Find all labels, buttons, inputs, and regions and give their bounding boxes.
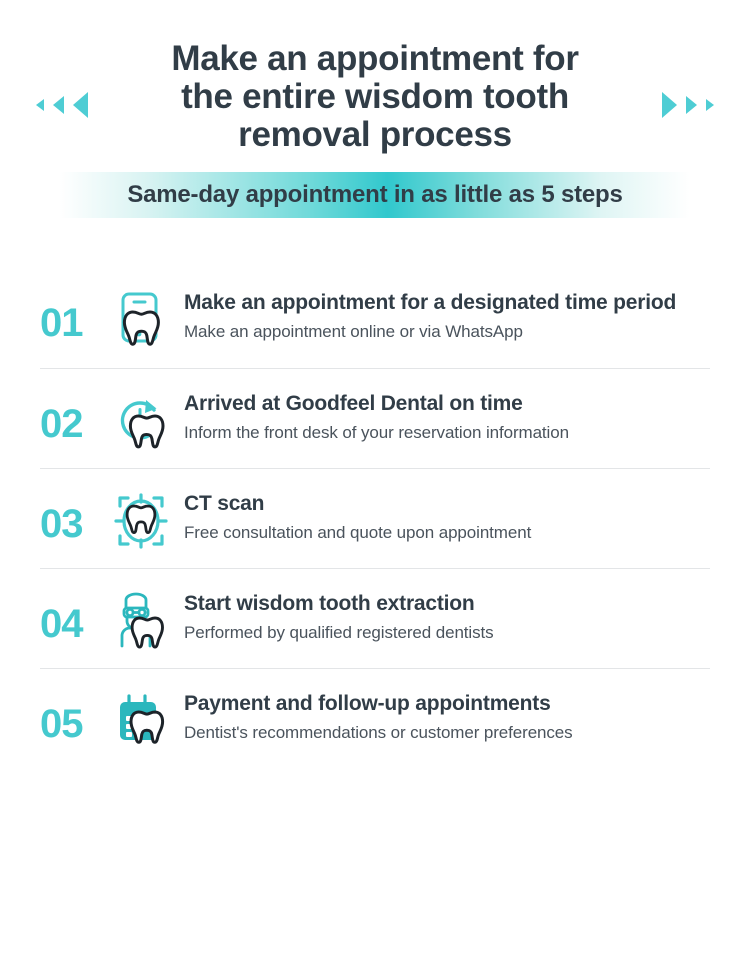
page-title-line-3: removal process — [130, 116, 620, 154]
step-number: 04 — [40, 584, 102, 644]
page-title-line-1: Make an appointment for — [130, 40, 620, 78]
header: Make an appointment for the entire wisdo… — [0, 0, 750, 150]
appointment-process-infographic: Make an appointment for the entire wisdo… — [0, 0, 750, 965]
step-text: Arrived at Goodfeel Dental on time Infor… — [180, 384, 710, 444]
step-number: 02 — [40, 384, 102, 444]
step-description: Performed by qualified registered dentis… — [184, 622, 710, 644]
step-description: Make an appointment online or via WhatsA… — [184, 321, 710, 343]
step-item: 04 Start wisdom — [40, 568, 710, 668]
step-description: Dentist's recommendations or customer pr… — [184, 722, 710, 744]
step-title: CT scan — [184, 490, 710, 517]
step-title: Payment and follow-up appointments — [184, 690, 710, 717]
calendar-tooth-icon — [102, 684, 180, 752]
step-text: Make an appointment for a designated tim… — [180, 283, 710, 343]
step-description: Inform the front desk of your reservatio… — [184, 422, 710, 444]
banner-wrapper: Same-day appointment in as little as 5 s… — [0, 172, 750, 218]
chevron-left-icon — [53, 96, 64, 114]
step-item: 01 Make an appointment for a designated … — [40, 268, 710, 368]
chevron-right-icon — [706, 99, 714, 111]
scan-brackets-tooth-icon — [102, 484, 180, 552]
clock-arrow-tooth-icon — [102, 384, 180, 452]
step-item: 02 Arrived at Goodfeel Dental on time In… — [40, 368, 710, 468]
page-title: Make an appointment for the entire wisdo… — [0, 40, 750, 154]
chevron-right-icon — [686, 96, 697, 114]
step-number: 01 — [40, 283, 102, 343]
step-description: Free consultation and quote upon appoint… — [184, 522, 710, 544]
page-title-line-2: the entire wisdom tooth — [130, 78, 620, 116]
left-arrow-decoration — [36, 92, 88, 118]
highlight-banner: Same-day appointment in as little as 5 s… — [60, 172, 690, 218]
step-text: CT scan Free consultation and quote upon… — [180, 484, 710, 544]
chevron-right-icon — [662, 92, 677, 118]
step-number: 03 — [40, 484, 102, 544]
banner-text: Same-day appointment in as little as 5 s… — [127, 181, 622, 209]
step-title: Arrived at Goodfeel Dental on time — [184, 390, 710, 417]
phone-tooth-icon — [102, 283, 180, 351]
chevron-left-icon — [36, 99, 44, 111]
chevron-left-icon — [73, 92, 88, 118]
step-title: Make an appointment for a designated tim… — [184, 289, 710, 316]
step-number: 05 — [40, 684, 102, 744]
steps-list: 01 Make an appointment for a designated … — [0, 268, 750, 768]
step-text: Payment and follow-up appointments Denti… — [180, 684, 710, 744]
right-arrow-decoration — [662, 92, 714, 118]
dentist-tooth-icon — [102, 584, 180, 652]
step-title: Start wisdom tooth extraction — [184, 590, 710, 617]
step-text: Start wisdom tooth extraction Performed … — [180, 584, 710, 644]
step-item: 05 — [40, 668, 710, 768]
step-item: 03 CT — [40, 468, 710, 568]
